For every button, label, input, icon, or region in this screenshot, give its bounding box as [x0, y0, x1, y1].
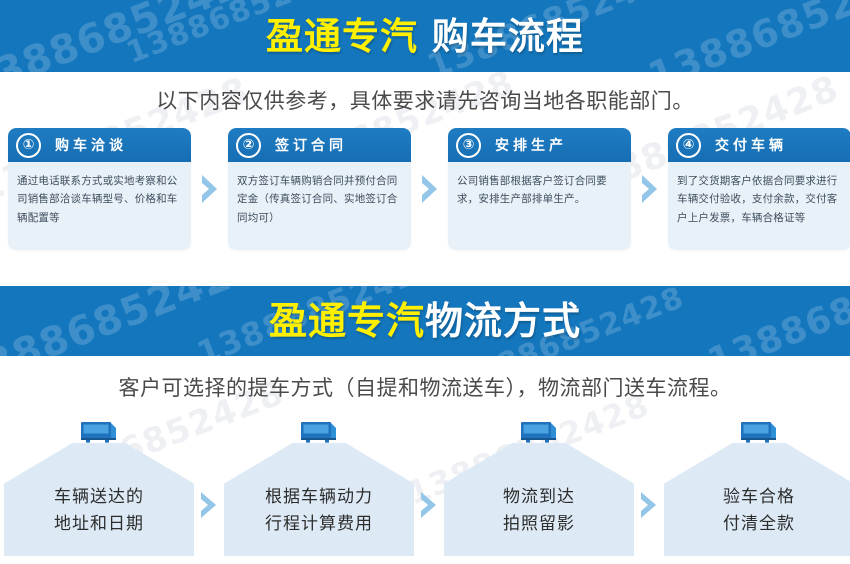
brand-name: 盈通专汽	[266, 15, 418, 58]
step-body-3: 公司销售部根据客户签订合同要求，安排生产部排单生产。	[448, 162, 631, 217]
logistics-card-shape-4: 验车合格 付清全款	[664, 443, 850, 556]
logistics-banner: 盈通专汽物流方式	[0, 286, 850, 356]
step-header-2: ② 签订合同	[228, 128, 411, 162]
step-number-badge: ②	[236, 133, 261, 158]
step-number-badge: ④	[676, 133, 701, 158]
logistics-card-1[interactable]: 车辆送达的 地址和日期	[4, 418, 194, 556]
purchase-banner-title: 盈通专汽 购车流程	[266, 18, 584, 55]
step-body-4: 到了交货期客户依据合同要求进行车辆交付验收，支付余款，交付客户上户发票，车辆合格…	[668, 162, 850, 235]
step-card-4[interactable]: ④ 交付车辆 到了交货期客户依据合同要求进行车辆交付验收，支付余款，交付客户上户…	[668, 128, 850, 250]
logistics-card-shape-1: 车辆送达的 地址和日期	[4, 443, 194, 556]
logistics-card-shape-2: 根据车辆动力 行程计算费用	[224, 443, 414, 556]
truck-icon	[736, 418, 782, 446]
purchase-banner: 盈通专汽 购车流程	[0, 0, 850, 72]
step-title-3: 安排生产	[495, 135, 567, 155]
logistics-card-shape-3: 物流到达 拍照留影	[444, 443, 634, 556]
logistics-cards-row: 车辆送达的 地址和日期 根据车辆动力 行程计算费用	[0, 418, 850, 558]
chevron-right-icon	[414, 418, 444, 556]
logistics-banner-title: 盈通专汽物流方式	[269, 302, 581, 340]
logistics-card-2[interactable]: 根据车辆动力 行程计算费用	[224, 418, 414, 556]
truck-icon	[76, 418, 122, 446]
step-card-3[interactable]: ③ 安排生产 公司销售部根据客户签订合同要求，安排生产部排单生产。	[448, 128, 631, 250]
truck-icon	[296, 418, 342, 446]
step-body-1: 通过电话联系方式或实地考察和公司销售部洽谈车辆型号、价格和车辆配置等	[8, 162, 191, 235]
step-header-3: ③ 安排生产	[448, 128, 631, 162]
purchase-subtitle: 以下内容仅供参考，具体要求请先咨询当地各职能部门。	[156, 85, 694, 115]
step-header-1: ① 购车洽谈	[8, 128, 191, 162]
logistics-subtitle: 客户可选择的提车方式（自提和物流送车），物流部门送车流程。	[119, 372, 732, 402]
purchase-steps-row: ① 购车洽谈 通过电话联系方式或实地考察和公司销售部洽谈车辆型号、价格和车辆配置…	[0, 128, 850, 256]
step-card-1[interactable]: ① 购车洽谈 通过电话联系方式或实地考察和公司销售部洽谈车辆型号、价格和车辆配置…	[8, 128, 191, 250]
step-title-4: 交付车辆	[715, 135, 787, 155]
logistics-card-line2: 拍照留影	[503, 511, 575, 537]
logistics-card-line1: 车辆送达的	[54, 484, 144, 510]
logistics-card-line2: 行程计算费用	[265, 511, 373, 537]
logistics-card-3[interactable]: 物流到达 拍照留影	[444, 418, 634, 556]
step-number-badge: ①	[16, 133, 41, 158]
brand-name: 盈通专汽	[269, 299, 425, 343]
logistics-card-line2: 地址和日期	[54, 511, 144, 537]
step-title-2: 签订合同	[275, 135, 347, 155]
step-body-2: 双方签订车辆购销合同并预付合同定金（传真签订合同、实地签订合同均可）	[228, 162, 411, 235]
logistics-banner-subtext: 物流方式	[425, 299, 581, 343]
purchase-banner-subtext: 购车流程	[418, 15, 584, 58]
chevron-right-icon	[194, 418, 224, 556]
step-card-2[interactable]: ② 签订合同 双方签订车辆购销合同并预付合同定金（传真签订合同、实地签订合同均可…	[228, 128, 411, 250]
logistics-subtitle-row: 客户可选择的提车方式（自提和物流送车），物流部门送车流程。	[0, 356, 850, 418]
chevron-right-icon	[191, 128, 228, 250]
truck-icon	[516, 418, 562, 446]
step-header-4: ④ 交付车辆	[668, 128, 850, 162]
logistics-card-line1: 物流到达	[503, 484, 575, 510]
chevron-right-icon	[411, 128, 448, 250]
logistics-card-line1: 验车合格	[723, 484, 795, 510]
logistics-card-4[interactable]: 验车合格 付清全款	[664, 418, 850, 556]
logistics-card-line2: 付清全款	[723, 511, 795, 537]
section-spacer	[0, 256, 850, 286]
step-number-badge: ③	[456, 133, 481, 158]
logistics-card-line1: 根据车辆动力	[265, 484, 373, 510]
purchase-subtitle-row: 以下内容仅供参考，具体要求请先咨询当地各职能部门。	[0, 72, 850, 128]
chevron-right-icon	[631, 128, 668, 250]
step-title-1: 购车洽谈	[55, 135, 127, 155]
chevron-right-icon	[634, 418, 664, 556]
